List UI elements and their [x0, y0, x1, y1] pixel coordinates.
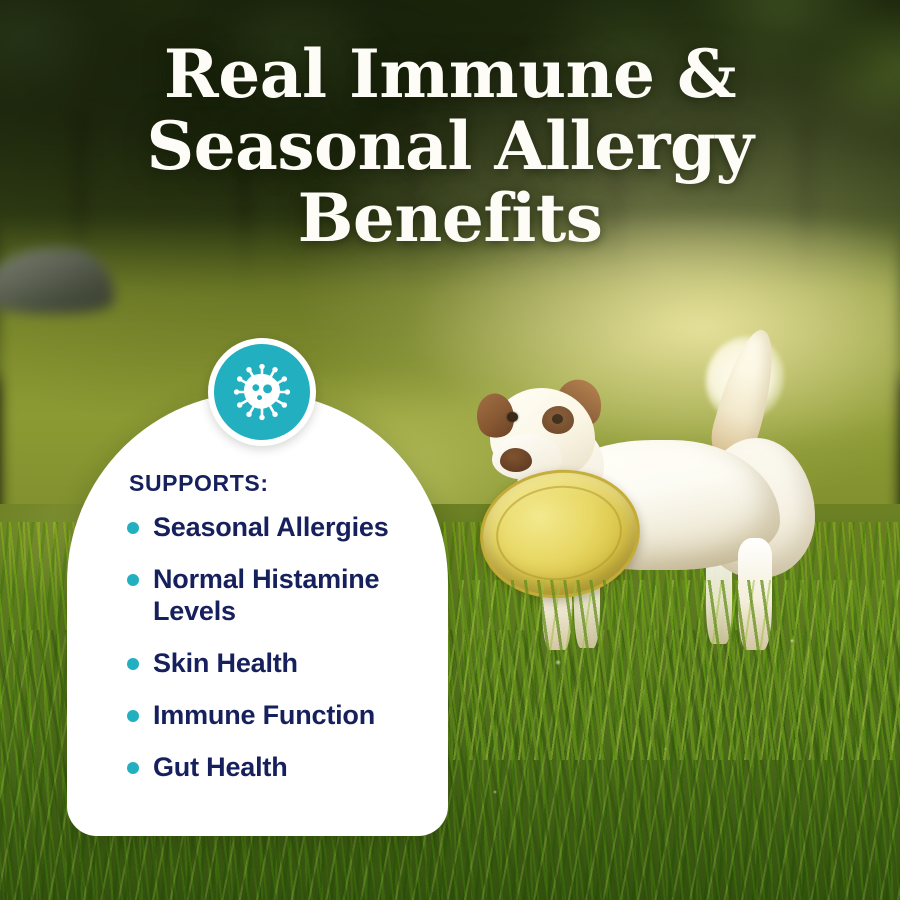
- headline-line-1: Real Immune &: [0, 38, 900, 110]
- dog-left-eye: [507, 412, 518, 422]
- benefits-list: Seasonal Allergies Normal Histamine Leve…: [127, 511, 426, 783]
- headline-line-3: Benefits: [0, 182, 900, 254]
- list-item: Seasonal Allergies: [127, 511, 426, 543]
- list-item: Immune Function: [127, 699, 426, 731]
- list-item: Normal Histamine Levels: [127, 563, 426, 627]
- benefits-card-content: SUPPORTS: Seasonal Allergies Normal Hist…: [67, 392, 448, 836]
- virus-germ-icon: [231, 361, 293, 423]
- benefits-card: SUPPORTS: Seasonal Allergies Normal Hist…: [67, 392, 448, 836]
- dog-nose: [500, 448, 532, 472]
- list-item: Gut Health: [127, 751, 426, 783]
- headline-line-2: Seasonal Allergy: [0, 110, 900, 182]
- grass-overlay-front: [440, 580, 900, 760]
- list-item: Skin Health: [127, 647, 426, 679]
- dog-right-eye: [552, 414, 563, 424]
- headline: Real Immune & Seasonal Allergy Benefits: [0, 38, 900, 254]
- dog-with-frisbee: [470, 330, 900, 760]
- rock: [0, 248, 114, 314]
- supports-label: SUPPORTS:: [129, 470, 426, 497]
- virus-badge: [208, 338, 316, 446]
- promo-graphic: Real Immune & Seasonal Allergy Benefits …: [0, 0, 900, 900]
